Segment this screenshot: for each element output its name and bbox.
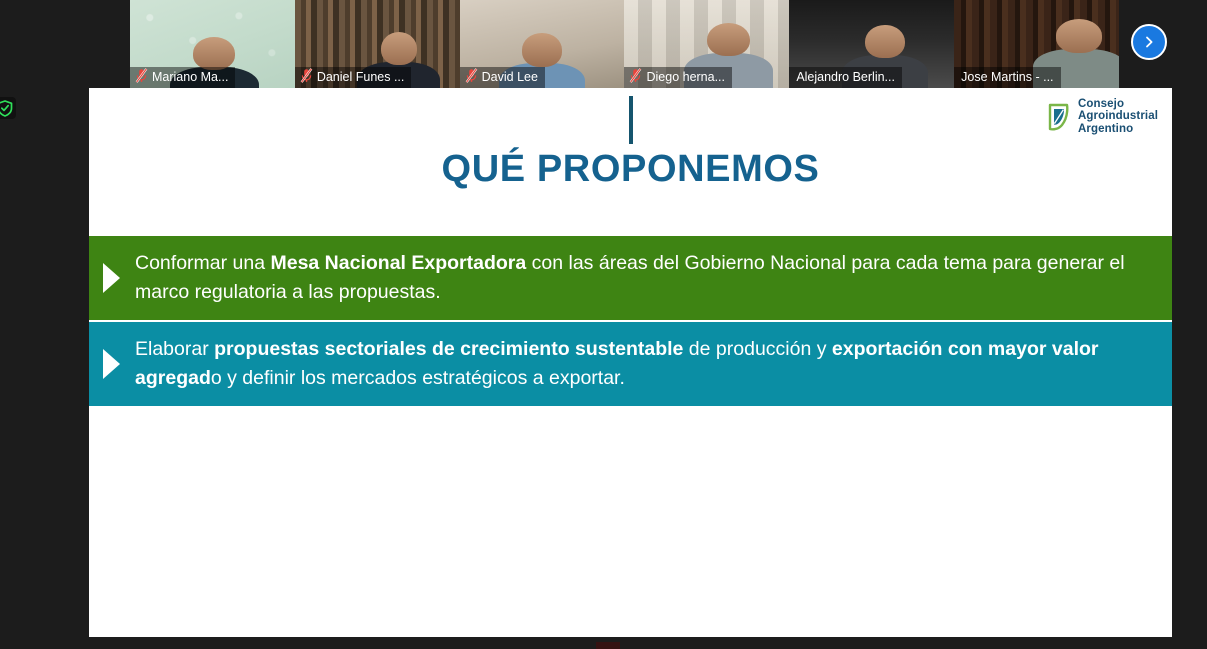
participant-tile[interactable]: Diego herna...	[624, 0, 789, 88]
bullet-text-plain: Conformar una	[135, 252, 270, 274]
zoom-shared-screen-window: Mariano Ma...Daniel Funes ...David LeeDi…	[0, 0, 1207, 649]
mic-muted-icon	[629, 68, 642, 83]
participant-tile[interactable]: Alejandro Berlin...	[789, 0, 954, 88]
bullet-text-plain: de producción y	[683, 338, 832, 360]
participant-name-label: Alejandro Berlin...	[789, 67, 902, 88]
participant-face	[865, 25, 905, 58]
security-shield-icon[interactable]	[0, 97, 16, 119]
next-participants-button[interactable]	[1131, 24, 1167, 60]
participant-face	[1056, 19, 1102, 52]
bullet-text-plain: Elaborar	[135, 338, 214, 360]
participant-filmstrip: Mariano Ma...Daniel Funes ...David LeeDi…	[130, 0, 1119, 88]
logo-line-2: Agroindustrial	[1078, 110, 1158, 122]
leaf-logo-icon	[1046, 102, 1072, 132]
participant-tile[interactable]: Jose Martins - ...	[954, 0, 1119, 88]
participant-tile[interactable]: Mariano Ma...	[130, 0, 295, 88]
shield-check-icon	[0, 100, 13, 117]
participant-tile[interactable]: Daniel Funes ...	[295, 0, 460, 88]
bullet-chevron-icon	[89, 347, 135, 381]
logo-line-1: Consejo	[1078, 98, 1158, 110]
participant-face	[522, 33, 562, 66]
bullet-text-plain: o y definir los mercados estratégicos a …	[211, 367, 625, 389]
bullet-text-bold: Mesa Nacional Exportadora	[270, 252, 526, 274]
participant-face	[193, 37, 236, 70]
participant-tile[interactable]: David Lee	[460, 0, 625, 88]
mic-muted-icon	[135, 68, 148, 83]
participant-name-label: Jose Martins - ...	[954, 67, 1060, 88]
bullet-text: Conformar una Mesa Nacional Exportadora …	[135, 249, 1172, 307]
bullet-text: Elaborar propuestas sectoriales de creci…	[135, 335, 1172, 393]
participant-face	[707, 23, 750, 56]
shared-slide: Consejo Agroindustrial Argentino QUÉ PRO…	[89, 88, 1172, 637]
bullet-chevron-icon	[89, 261, 135, 295]
window-bottom-bar	[0, 637, 1207, 649]
logo-line-3: Argentino	[1078, 123, 1158, 135]
bullet-text-bold: propuestas sectoriales de crecimiento su…	[214, 338, 683, 360]
consejo-agroindustrial-logo: Consejo Agroindustrial Argentino	[1046, 98, 1158, 135]
bottom-indicator	[596, 642, 620, 649]
slide-title: QUÉ PROPONEMOS	[89, 148, 1172, 191]
mic-muted-icon	[465, 68, 478, 83]
title-accent-rule	[629, 96, 633, 144]
participant-face	[381, 32, 417, 65]
chevron-right-icon	[1142, 35, 1156, 49]
logo-wordmark: Consejo Agroindustrial Argentino	[1078, 98, 1158, 135]
bullet-band: Conformar una Mesa Nacional Exportadora …	[89, 236, 1172, 320]
bullet-band: Elaborar propuestas sectoriales de creci…	[89, 322, 1172, 406]
mic-muted-icon	[300, 68, 313, 83]
